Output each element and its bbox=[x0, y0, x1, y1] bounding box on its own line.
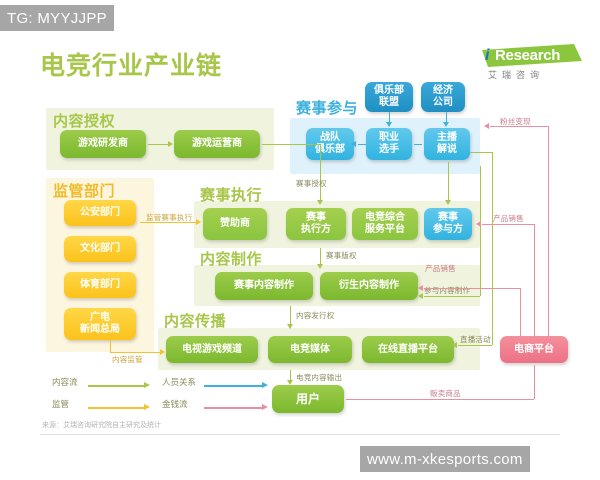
node-tv-game-channel[interactable]: 电视游戏频道 bbox=[166, 336, 258, 363]
node-event-content-production[interactable]: 赛事内容制作 bbox=[215, 272, 313, 300]
legend-label-people-relation: 人员关系 bbox=[162, 376, 196, 388]
arrowhead bbox=[168, 141, 173, 147]
edge-label-product-sales-right: 产品销售 bbox=[493, 213, 524, 224]
panel-title-content-license: 内容授权 bbox=[53, 110, 115, 131]
edge-operator-right bbox=[262, 144, 320, 145]
edge-ecommerce-product-v bbox=[534, 224, 535, 338]
logo-chinese-name: 艾瑞咨询 bbox=[488, 68, 544, 81]
edge-label-sell-goods: 贩卖商品 bbox=[430, 388, 461, 399]
node-label-line2: 公司 bbox=[433, 97, 453, 109]
legend-line-content-flow bbox=[88, 385, 144, 387]
node-label-line2: 选手 bbox=[379, 144, 399, 156]
edge-product-sales-mid-h bbox=[424, 288, 520, 289]
node-label-line2: 参与方 bbox=[433, 224, 463, 236]
edge-label-event-copyright: 赛事版权 bbox=[326, 250, 357, 261]
node-esports-media[interactable]: 电竞媒体 bbox=[268, 336, 352, 363]
node-label: 电视游戏频道 bbox=[182, 344, 242, 356]
node-label-line2: 新闻总局 bbox=[80, 324, 120, 336]
logo-wordmark: Research bbox=[495, 46, 560, 66]
legend-line-people-relation bbox=[204, 385, 262, 387]
node-label-line2: 解说 bbox=[437, 144, 457, 156]
edge-content-regulation-right bbox=[110, 352, 162, 353]
edge-content-regulation-down bbox=[110, 340, 111, 352]
legend: 内容流 人员关系 监管 金钱流 bbox=[52, 376, 292, 416]
node-ecommerce-platform[interactable]: 电商平台 bbox=[500, 336, 568, 363]
arrowhead bbox=[160, 349, 165, 355]
node-online-live-platform[interactable]: 在线直播平台 bbox=[362, 336, 454, 363]
legend-arrow-money-flow bbox=[262, 404, 268, 410]
edge-label-product-sales-mid: 产品销售 bbox=[425, 263, 456, 274]
edge-ecommerce-fan-v bbox=[548, 126, 549, 338]
edge-sell-goods-h bbox=[346, 399, 534, 400]
edge-sell-goods-v bbox=[534, 365, 535, 399]
node-game-developer[interactable]: 游戏研发商 bbox=[60, 130, 146, 158]
node-label-line1: 职业 bbox=[379, 132, 399, 144]
node-pro-player[interactable]: 职业 选手 bbox=[366, 128, 412, 160]
legend-label-regulation: 监管 bbox=[52, 398, 69, 410]
node-sports-dept[interactable]: 体育部门 bbox=[64, 272, 136, 298]
watermark-top: TG: MYYJJPP bbox=[0, 5, 114, 31]
node-label-line2: 执行方 bbox=[301, 224, 331, 236]
node-label-line1: 电竞综合 bbox=[365, 212, 405, 224]
source-divider bbox=[40, 434, 560, 435]
panel-title-event-participation: 赛事参与 bbox=[296, 97, 358, 118]
legend-label-content-flow: 内容流 bbox=[52, 376, 78, 388]
node-label-line1: 赛事 bbox=[438, 212, 458, 224]
node-sponsor[interactable]: 赞助商 bbox=[203, 208, 267, 240]
edge-join-content-production-v bbox=[480, 166, 481, 296]
arrowhead bbox=[443, 122, 449, 127]
node-esports-service-platform[interactable]: 电竞综合 服务平台 bbox=[352, 208, 418, 240]
edge-label-event-license: 赛事授权 bbox=[296, 178, 327, 189]
arrowhead bbox=[317, 264, 323, 269]
edge-product-sales-h bbox=[482, 224, 534, 225]
edge-streamer-loop-h1 bbox=[470, 152, 492, 153]
node-label: 用户 bbox=[296, 393, 320, 405]
legend-label-money-flow: 金钱流 bbox=[162, 398, 188, 410]
node-label: 公安部门 bbox=[80, 207, 120, 219]
node-label: 游戏研发商 bbox=[78, 138, 128, 150]
edge-join-content-production-h bbox=[424, 296, 480, 297]
node-label-line1: 俱乐部 bbox=[374, 85, 404, 97]
panel-title-content-distribution: 内容传播 bbox=[164, 310, 226, 331]
legend-arrow-people-relation bbox=[262, 382, 268, 388]
edge-label-fan-monetization: 粉丝变现 bbox=[500, 116, 531, 127]
edge-player-to-team bbox=[358, 144, 366, 145]
watermark-bottom: www.m-xkesports.com bbox=[360, 446, 530, 472]
edge-label-join-content-production: 参与内容制作 bbox=[424, 285, 470, 296]
arrowhead bbox=[386, 122, 392, 127]
node-label-line2: 服务平台 bbox=[365, 224, 405, 236]
node-label: 电竞媒体 bbox=[290, 344, 330, 356]
edge-developer-to-operator bbox=[148, 144, 168, 145]
node-label: 赞助商 bbox=[220, 218, 250, 230]
node-game-operator[interactable]: 游戏运营商 bbox=[174, 130, 260, 158]
node-public-security-dept[interactable]: 公安部门 bbox=[64, 200, 136, 226]
node-derivative-content-production[interactable]: 衍生内容制作 bbox=[320, 272, 418, 300]
node-culture-dept[interactable]: 文化部门 bbox=[64, 236, 136, 262]
source-note: 来源：艾瑞咨询研究院自主研究及统计 bbox=[42, 420, 161, 430]
node-event-participant[interactable]: 赛事 参与方 bbox=[424, 208, 472, 240]
node-label: 体育部门 bbox=[80, 279, 120, 291]
node-label: 赛事内容制作 bbox=[234, 280, 294, 292]
page-title: 电竞行业产业链 bbox=[40, 46, 222, 82]
node-label: 游戏运营商 bbox=[192, 138, 242, 150]
arrowhead bbox=[418, 293, 423, 299]
node-label-line1: 广电 bbox=[90, 312, 110, 324]
arrowhead bbox=[452, 342, 457, 348]
edge-label-live-activity: 直播活动 bbox=[460, 334, 491, 345]
panel-title-event-execution: 赛事执行 bbox=[200, 184, 262, 205]
edge-live-activity-h bbox=[458, 345, 492, 346]
node-label-line1: 主播 bbox=[437, 132, 457, 144]
panel-title-regulators: 监管部门 bbox=[53, 180, 115, 201]
iresearch-logo: i Research 艾瑞咨询 bbox=[482, 44, 582, 82]
node-label-line2: 联盟 bbox=[379, 97, 399, 109]
edge-label-regulate-event-exec: 监管赛事执行 bbox=[146, 212, 192, 223]
legend-line-money-flow bbox=[204, 407, 262, 409]
edge-streamer-to-player bbox=[414, 144, 422, 145]
node-label: 衍生内容制作 bbox=[339, 280, 399, 292]
node-label-line1: 战队 bbox=[320, 132, 340, 144]
node-sarft[interactable]: 广电 新闻总局 bbox=[64, 308, 136, 340]
arrowhead bbox=[287, 324, 293, 329]
edge-label-esports-content-output: 电竞内容输出 bbox=[296, 372, 342, 383]
node-label-line1: 经济 bbox=[433, 85, 453, 97]
node-label-line1: 赛事 bbox=[306, 212, 326, 224]
edge-streamer-loop-v bbox=[492, 152, 493, 345]
panel-title-content-production: 内容制作 bbox=[200, 248, 262, 269]
legend-line-regulation bbox=[88, 407, 144, 409]
arrowhead bbox=[476, 221, 481, 227]
arrowhead bbox=[351, 141, 356, 147]
edge-participation-down bbox=[448, 162, 449, 202]
node-agency-company[interactable]: 经济 公司 bbox=[421, 82, 465, 112]
arrowhead bbox=[445, 200, 451, 205]
node-label: 电商平台 bbox=[514, 344, 554, 356]
legend-arrow-content-flow bbox=[144, 382, 150, 388]
arrowhead bbox=[317, 200, 323, 205]
node-event-organizer[interactable]: 赛事 执行方 bbox=[286, 208, 346, 240]
logo-i-letter: i bbox=[485, 45, 489, 66]
node-label: 在线直播平台 bbox=[378, 344, 438, 356]
arrowhead bbox=[196, 219, 201, 225]
edge-ecommerce-mid-v bbox=[520, 288, 521, 338]
arrowhead bbox=[484, 123, 489, 129]
edge-label-content-regulation: 内容监管 bbox=[112, 354, 143, 365]
edge-operator-down bbox=[320, 144, 321, 202]
node-club-alliance[interactable]: 俱乐部 联盟 bbox=[365, 82, 413, 112]
arrowhead bbox=[418, 285, 423, 291]
edge-label-content-distribution-right: 内容发行权 bbox=[296, 310, 335, 321]
node-label: 文化部门 bbox=[80, 243, 120, 255]
legend-arrow-regulation bbox=[144, 404, 150, 410]
node-streamer-commentator[interactable]: 主播 解说 bbox=[424, 128, 470, 160]
